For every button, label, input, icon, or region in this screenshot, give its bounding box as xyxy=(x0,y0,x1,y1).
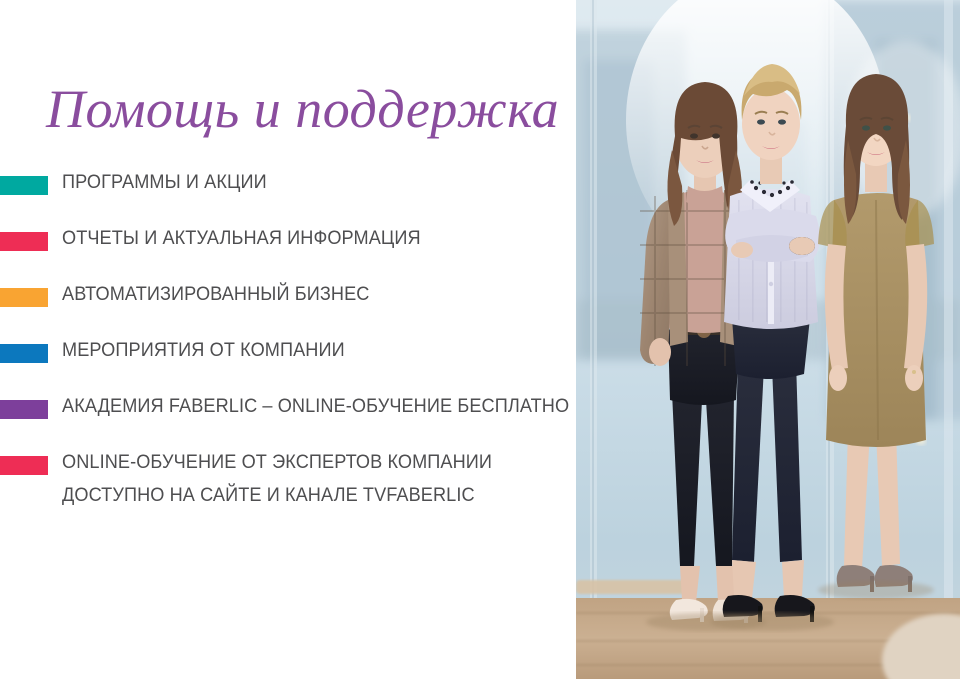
list-item: ПРОГРАММЫ И АКЦИИ xyxy=(0,170,576,226)
list-item: АВТОМАТИЗИРОВАННЫЙ БИЗНЕС xyxy=(0,282,576,338)
bullet-swatch-teal xyxy=(0,176,48,195)
hero-photo xyxy=(576,0,960,679)
hero-photo-illustration xyxy=(576,0,960,679)
list-item: ОТЧЕТЫ И АКТУАЛЬНАЯ ИНФОРМАЦИЯ xyxy=(0,226,576,282)
list-item-label: ОТЧЕТЫ И АКТУАЛЬНАЯ ИНФОРМАЦИЯ xyxy=(62,226,421,250)
page-title: Помощь и поддержка xyxy=(46,78,559,140)
bullet-swatch-crimson-2 xyxy=(0,456,48,475)
list-item-label: ПРОГРАММЫ И АКЦИИ xyxy=(62,170,267,194)
list-item-label: ONLINE-ОБУЧЕНИЕ ОТ ЭКСПЕРТОВ КОМПАНИИ ДО… xyxy=(62,450,492,507)
content-panel: Помощь и поддержка ПРОГРАММЫ И АКЦИИ ОТЧ… xyxy=(0,0,576,679)
list-item-label: АВТОМАТИЗИРОВАННЫЙ БИЗНЕС xyxy=(62,282,369,306)
list-item: ONLINE-ОБУЧЕНИЕ ОТ ЭКСПЕРТОВ КОМПАНИИ ДО… xyxy=(0,450,576,506)
bullet-swatch-crimson xyxy=(0,232,48,251)
list-item-label: АКАДЕМИЯ FABERLIC – ONLINE-ОБУЧЕНИЕ БЕСП… xyxy=(62,394,569,418)
bullet-swatch-purple xyxy=(0,400,48,419)
list-item-label: МЕРОПРИЯТИЯ ОТ КОМПАНИИ xyxy=(62,338,345,362)
list-item-label-line2: ДОСТУПНО НА САЙТЕ И КАНАЛЕ TVFABERLIC xyxy=(62,483,492,507)
list-item: АКАДЕМИЯ FABERLIC – ONLINE-ОБУЧЕНИЕ БЕСП… xyxy=(0,394,576,450)
bullet-list: ПРОГРАММЫ И АКЦИИ ОТЧЕТЫ И АКТУАЛЬНАЯ ИН… xyxy=(0,170,576,506)
bullet-swatch-orange xyxy=(0,288,48,307)
bullet-swatch-blue xyxy=(0,344,48,363)
list-item: МЕРОПРИЯТИЯ ОТ КОМПАНИИ xyxy=(0,338,576,394)
slide-root: Помощь и поддержка ПРОГРАММЫ И АКЦИИ ОТЧ… xyxy=(0,0,960,679)
